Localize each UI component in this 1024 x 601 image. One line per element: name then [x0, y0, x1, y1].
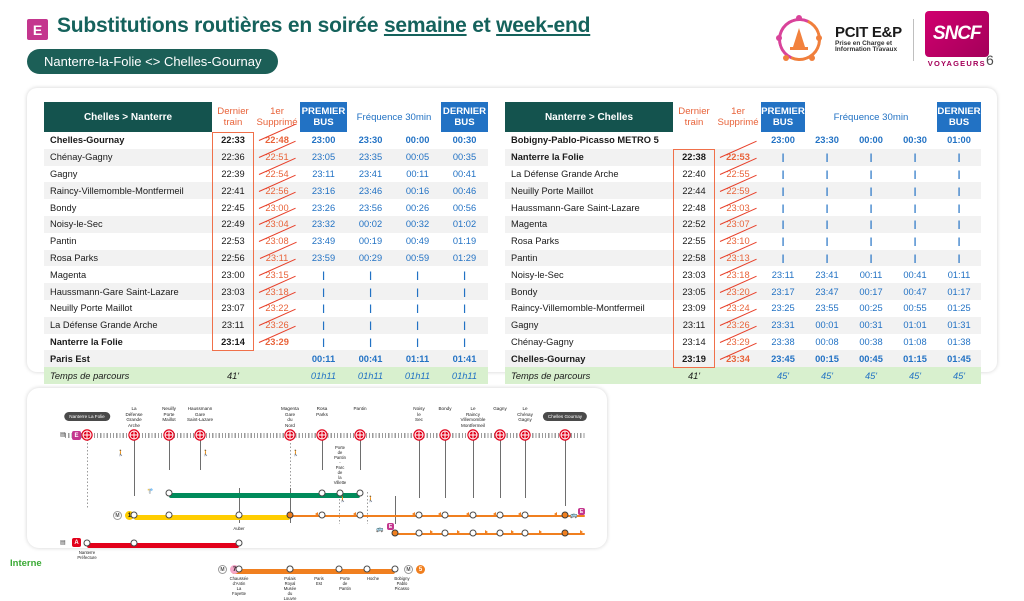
route-pill: Nanterre-la-Folie <> Chelles-Gournay: [27, 49, 278, 74]
dernier-train-value: 22:41: [212, 182, 254, 199]
connector-ladefense: [134, 436, 135, 496]
station-name: Haussmann-Gare Saint-Lazare: [505, 199, 673, 216]
map-station-label: Pantin: [353, 406, 366, 412]
rer-a-train-icon: ▤: [60, 539, 66, 546]
bus-arrow-east-1: [457, 530, 460, 534]
frequence-bus-value: |: [893, 250, 937, 267]
frequence-bus-value: 00:26: [394, 199, 441, 216]
table-row: Neuilly Porte Maillot22:4422:59|||||: [505, 182, 981, 199]
bus-arrow-west-0: [315, 512, 318, 516]
map-station-marker: [415, 431, 424, 440]
pink-node-chaussee-antin: [236, 566, 243, 573]
bus-node-w6: [497, 512, 504, 519]
station-name: Pantin: [44, 233, 212, 250]
premier-bus-value: 23:25: [761, 300, 805, 317]
table-row: Magenta23:0023:15||||: [44, 266, 488, 283]
line-e-badge: E: [27, 19, 48, 40]
dernier-train-value: 22:44: [673, 182, 715, 199]
dernier-train-value: 22:39: [212, 166, 254, 183]
green-line: [169, 493, 360, 498]
total-row: Temps de parcours41'45'45'45'45'45': [505, 367, 981, 384]
yellow-node-auber: [236, 512, 243, 519]
pedestrian-transfer-icon-1: 🚶: [202, 450, 209, 457]
pedestrian-transfer-icon-0: 🚶: [117, 450, 124, 457]
frequence-bus-value: |: [849, 233, 893, 250]
dernier-bus-value: |: [441, 334, 488, 351]
map-station-marker: [130, 431, 139, 440]
dernier-train-value: 22:33: [212, 132, 254, 149]
map-label-nanterre-prefecture: NanterrePréfecture: [77, 550, 96, 560]
bus-arrow-east-2: [485, 530, 488, 534]
left-header-premier-supprime: 1er Supprimé: [254, 102, 300, 132]
frequence-bus-value: |: [893, 199, 937, 216]
premier-supprime-value: 23:15: [254, 266, 300, 283]
bus-arrow-east-5: [580, 530, 583, 534]
premier-bus-value: |: [300, 317, 347, 334]
frequence-bus-value: 00:55: [893, 300, 937, 317]
table-row: Gagny22:3922:5423:1123:4100:1100:41: [44, 166, 488, 183]
premier-supprime-value: 23:08: [254, 233, 300, 250]
station-name: Chelles-Gournay: [44, 132, 212, 149]
bus-terminus-paris-est: [287, 512, 294, 519]
station-name: Gagny: [505, 317, 673, 334]
total-bus-duration: 01h11: [300, 367, 347, 384]
frequence-bus-value: 23:47: [805, 283, 849, 300]
metro-m-badge-1: M: [113, 511, 122, 520]
connector-leraincy: [473, 436, 474, 498]
bus-node-e1: [416, 530, 423, 537]
dernier-train-value: 22:52: [673, 216, 715, 233]
premier-supprime-value: 22:48: [254, 132, 300, 149]
bus-terminus-chelles-w: [562, 512, 569, 519]
green-node-pantin: [357, 490, 364, 497]
premier-supprime-value: 22:55: [715, 166, 761, 183]
map-station-chip: Chelles Gournay: [543, 412, 587, 421]
premier-bus-value: |: [300, 266, 347, 283]
station-name: Neuilly Porte Maillot: [44, 300, 212, 317]
dernier-train-value: [212, 350, 254, 367]
rer-e-train-icon: ▤: [60, 431, 66, 438]
map-label-porte-pantin-villette: PortedePantin-ParcdelaVillette: [334, 445, 347, 485]
right-header-premier-supprime: 1er Supprimé: [715, 102, 761, 132]
logo-divider: [913, 19, 914, 61]
orange-node-bobigny: [392, 566, 399, 573]
connector-bobigny: [395, 496, 396, 524]
table-row: Gagny23:1123:2623:3100:0100:3101:0101:31: [505, 317, 981, 334]
table-row: La Défense Grande Arche22:4022:55|||||: [505, 166, 981, 183]
frequence-bus-value: 23:41: [347, 166, 394, 183]
table-row: Neuilly Porte Maillot23:0723:22||||: [44, 300, 488, 317]
premier-supprime-value: 22:56: [254, 182, 300, 199]
dernier-bus-value: 00:35: [441, 149, 488, 166]
bus-terminus-bobigny: [392, 530, 399, 537]
dernier-bus-value: 01:41: [441, 350, 488, 367]
frequence-bus-value: 00:19: [347, 233, 394, 250]
station-name: Bondy: [44, 199, 212, 216]
table-row: Chénay-Gagny23:1423:2923:3800:0800:3801:…: [505, 334, 981, 351]
connector-nanterre-dotted: [87, 436, 88, 508]
total-bus-duration: 01h11: [394, 367, 441, 384]
frequence-bus-value: 00:11: [849, 266, 893, 283]
total-bus-duration: 45': [937, 367, 981, 384]
frequence-bus-value: 00:31: [849, 317, 893, 334]
frequence-bus-value: |: [347, 300, 394, 317]
bus-arrow-west-5: [493, 512, 496, 516]
total-label: Temps de parcours: [505, 367, 673, 384]
dernier-bus-value: 01:17: [937, 283, 981, 300]
left-table-body: Chelles-Gournay22:3322:4823:0023:3000:00…: [44, 132, 488, 384]
total-bus-duration: 01h11: [441, 367, 488, 384]
premier-supprime-value: 22:59: [715, 182, 761, 199]
right-header-dernier-bus: DERNIER BUS: [937, 102, 981, 132]
green-node-neuilly: [166, 490, 173, 497]
frequence-bus-value: 00:41: [347, 350, 394, 367]
yellow-line-metro-1: [134, 515, 290, 520]
dernier-train-value: 23:05: [673, 283, 715, 300]
station-name: Raincy-Villemomble-Montfermeil: [44, 182, 212, 199]
right-header-dernier-train: Dernier train: [673, 102, 715, 132]
total-train-duration: 41': [212, 367, 254, 384]
premier-supprime-value: 23:24: [715, 300, 761, 317]
frequence-bus-value: 00:11: [394, 166, 441, 183]
map-label-louvre: PalaisRoyalMuséeduLouvre: [284, 576, 297, 601]
pedestrian-transfer-icon-4: 🚶: [367, 496, 374, 503]
dernier-train-value: 23:00: [212, 266, 254, 283]
total-spacer: [715, 367, 761, 384]
premier-bus-value: |: [761, 233, 805, 250]
right-table-body: Bobigny-Pablo-Picasso METRO 523:0023:300…: [505, 132, 981, 384]
pcit-logo-icon: [775, 15, 824, 64]
dernier-train-value: 22:49: [212, 216, 254, 233]
table-row: Paris Est00:1100:4101:1101:41: [44, 350, 488, 367]
map-station-marker: [196, 431, 205, 440]
line-e-map-badge: E: [72, 431, 81, 440]
pcit-name: PCIT E&P: [835, 25, 902, 41]
dernier-train-value: 22:48: [673, 199, 715, 216]
map-label-porte-de-pantin: PortedePantin: [339, 576, 351, 591]
dernier-bus-value: |: [937, 149, 981, 166]
frequence-bus-value: 23:35: [347, 149, 394, 166]
frequence-bus-value: 23:55: [805, 300, 849, 317]
dernier-train-value: 23:09: [673, 300, 715, 317]
frequence-bus-value: |: [893, 182, 937, 199]
dernier-train-value: 23:14: [212, 334, 254, 351]
map-station-marker: [318, 431, 327, 440]
station-name: Raincy-Villemomble-Montfermeil: [505, 300, 673, 317]
total-bus-duration: 45': [849, 367, 893, 384]
frequence-bus-value: 01:15: [893, 350, 937, 367]
bus-arrow-east-4: [539, 530, 542, 534]
dernier-bus-value: |: [937, 199, 981, 216]
map-station-label: Bondy: [438, 406, 451, 412]
frequence-bus-value: |: [347, 266, 394, 283]
page-title-part-2: semaine: [384, 14, 467, 37]
table-row: Haussmann-Gare Saint-Lazare22:4823:03|||…: [505, 199, 981, 216]
map-station-chip: Nanterre La Folie: [64, 412, 110, 421]
dernier-train-value: 23:14: [673, 334, 715, 351]
map-station-label: LaDéfenseGrandeArche: [125, 406, 142, 429]
orange-node-hoche: [364, 566, 371, 573]
dernier-train-value: 22:53: [212, 233, 254, 250]
left-header-frequence: Fréquence 30min: [347, 102, 441, 132]
map-station-label: LeChénayGagny: [517, 406, 533, 423]
classification-label: Interne: [10, 558, 42, 569]
bus-node-e4: [497, 530, 504, 537]
premier-supprime-value: 23:03: [715, 199, 761, 216]
premier-bus-value: |: [300, 334, 347, 351]
dernier-bus-value: 01:38: [937, 334, 981, 351]
map-station-label: Gagny: [493, 406, 507, 412]
dernier-train-value: 23:03: [212, 283, 254, 300]
premier-supprime-value: [715, 132, 761, 149]
station-name: Pantin: [505, 250, 673, 267]
bus-arrow-west-2: [412, 512, 415, 516]
bus-arrow-west-7: [554, 512, 557, 516]
premier-supprime-value: [254, 350, 300, 367]
frequence-bus-value: 01:08: [893, 334, 937, 351]
frequence-bus-value: |: [805, 233, 849, 250]
table-row: Chénay-Gagny22:3622:5123:0523:3500:0500:…: [44, 149, 488, 166]
map-station-marker: [441, 431, 450, 440]
premier-bus-value: |: [761, 250, 805, 267]
right-header-frequence: Fréquence 30min: [805, 102, 937, 132]
bus-arrow-east-3: [511, 530, 514, 534]
table-row: Raincy-Villemomble-Montfermeil23:0923:24…: [505, 300, 981, 317]
map-station-label: LeRaincyVillemombleMontfermeil: [461, 406, 486, 429]
premier-bus-value: 23:45: [761, 350, 805, 367]
map-station-marker: [286, 431, 295, 440]
dernier-bus-value: 01:11: [937, 266, 981, 283]
bus-terminus-chelles-e: [562, 530, 569, 537]
station-name: Chelles-Gournay: [505, 350, 673, 367]
station-name: La Défense Grande Arche: [505, 166, 673, 183]
premier-supprime-value: 23:22: [254, 300, 300, 317]
frequence-bus-value: 23:30: [805, 132, 849, 149]
dernier-train-value: 22:36: [212, 149, 254, 166]
frequence-bus-value: 00:00: [394, 132, 441, 149]
premier-bus-value: |: [300, 300, 347, 317]
dernier-bus-value: |: [937, 233, 981, 250]
premier-supprime-value: 23:29: [254, 334, 300, 351]
map-station-label: NoisyleSec: [413, 406, 425, 423]
connector-chenay: [525, 436, 526, 498]
map-station-label: HaussmannGareSaint-Lazare: [187, 406, 213, 423]
total-spacer: [254, 367, 300, 384]
dernier-bus-value: |: [441, 317, 488, 334]
red-line-rer-a: [87, 543, 239, 548]
dernier-train-value: 22:55: [673, 233, 715, 250]
station-name: Rosa Parks: [44, 250, 212, 267]
station-name: Magenta: [44, 266, 212, 283]
bus-node-w7: [522, 512, 529, 519]
table-row: Bondy22:4523:0023:2623:5600:2600:56: [44, 199, 488, 216]
map-station-marker: [83, 431, 92, 440]
station-name: Magenta: [505, 216, 673, 233]
metro-m-badge-3: M: [404, 565, 413, 574]
frequence-bus-value: 00:32: [394, 216, 441, 233]
connector-noisy: [419, 436, 420, 498]
premier-bus-value: 23:49: [300, 233, 347, 250]
table-row: Haussmann-Gare Saint-Lazare23:0323:18|||…: [44, 283, 488, 300]
dernier-bus-value: 01:45: [937, 350, 981, 367]
dernier-train-value: 22:40: [673, 166, 715, 183]
map-station-marker: [165, 431, 174, 440]
bus-arrow-west-4: [466, 512, 469, 516]
red-node-ladefense: [131, 540, 138, 547]
sncf-wordmark: SNCF: [933, 23, 981, 45]
frequence-bus-value: |: [849, 216, 893, 233]
map-station-marker: [521, 431, 530, 440]
frequence-bus-value: |: [805, 149, 849, 166]
dernier-train-value: 23:03: [673, 266, 715, 283]
map-station-label: RosaParks: [316, 406, 328, 417]
left-header-premier-bus: PREMIER BUS: [300, 102, 347, 132]
premier-bus-value: 23:00: [761, 132, 805, 149]
frequence-bus-value: 23:30: [347, 132, 394, 149]
metro-m-badge-2: M: [218, 565, 227, 574]
dernier-bus-value: 01:31: [937, 317, 981, 334]
table-row: Chelles-Gournay22:3322:4823:0023:3000:00…: [44, 132, 488, 149]
frequence-bus-value: |: [394, 266, 441, 283]
dernier-bus-value: 00:30: [441, 132, 488, 149]
metro-5-badge: 5: [416, 565, 425, 574]
premier-supprime-value: 23:29: [715, 334, 761, 351]
bus-node-w1: [319, 512, 326, 519]
table-row: Noisy-le-Sec23:0323:1823:1123:4100:1100:…: [505, 266, 981, 283]
dernier-bus-value: 01:02: [441, 216, 488, 233]
table-row: Bobigny-Pablo-Picasso METRO 523:0023:300…: [505, 132, 981, 149]
premier-supprime-value: 23:18: [715, 266, 761, 283]
dernier-train-value: 22:56: [212, 250, 254, 267]
map-station-marker: [496, 431, 505, 440]
table-row: Magenta22:5223:07|||||: [505, 216, 981, 233]
station-name: La Défense Grande Arche: [44, 317, 212, 334]
premier-bus-value: 23:38: [761, 334, 805, 351]
frequence-bus-value: |: [805, 182, 849, 199]
station-name: Nanterre la Folie: [44, 334, 212, 351]
frequence-bus-value: 00:17: [849, 283, 893, 300]
frequence-bus-value: |: [347, 334, 394, 351]
frequence-bus-value: |: [849, 199, 893, 216]
bus-node-e2: [442, 530, 449, 537]
dernier-bus-value: 00:56: [441, 199, 488, 216]
premier-supprime-value: 23:11: [254, 250, 300, 267]
orange-line-bus-south: [232, 569, 395, 574]
pedestrian-transfer-icon-3: 🚶: [339, 496, 346, 503]
dernier-train-value: 23:11: [673, 317, 715, 334]
table-row: Raincy-Villemomble-Montfermeil22:4122:56…: [44, 182, 488, 199]
frequence-bus-value: |: [394, 334, 441, 351]
page-header: E Substitutions routières en soirée sema…: [0, 0, 1024, 88]
total-bus-duration: 01h11: [347, 367, 394, 384]
frequence-bus-value: 01:11: [394, 350, 441, 367]
dernier-bus-value: |: [937, 250, 981, 267]
map-label-bobigny: BobignyPabloPicasso: [394, 576, 409, 591]
premier-supprime-value: 22:53: [715, 149, 761, 166]
bus-substitution-badge-chelles: E: [578, 508, 585, 515]
map-label-paris-est: ParisEst: [314, 576, 324, 586]
station-name: Chénay-Gagny: [44, 149, 212, 166]
timetable-left: Chelles > Nanterre Dernier train 1er Sup…: [44, 102, 488, 384]
orange-node-paris-est: [287, 566, 294, 573]
logo-group: PCIT E&P Prise en Charge et Information …: [775, 12, 989, 67]
frequence-bus-value: 00:41: [893, 266, 937, 283]
table-row: Pantin22:5823:13|||||: [505, 250, 981, 267]
table-row: Pantin22:5323:0823:4900:1900:4901:19: [44, 233, 488, 250]
map-station-marker: [356, 431, 365, 440]
dernier-bus-value: 01:29: [441, 250, 488, 267]
page-title-part-3: et: [467, 14, 497, 37]
red-node-nanterre-prefecture: [84, 540, 91, 547]
connector-magenta-dotted: [290, 436, 291, 488]
network-map: E ▤ 🚏 A ▤ 1: [27, 388, 607, 548]
premier-bus-value: 23:31: [761, 317, 805, 334]
pcit-logo-text: PCIT E&P Prise en Charge et Information …: [835, 25, 902, 54]
station-name: Noisy-le-Sec: [44, 216, 212, 233]
frequence-bus-value: 00:16: [394, 182, 441, 199]
premier-supprime-value: 23:18: [254, 283, 300, 300]
table-row: Nanterre la Folie23:1423:29||||: [44, 334, 488, 351]
page-number: 6: [986, 52, 994, 68]
dernier-bus-value: 01:00: [937, 132, 981, 149]
table-row: Noisy-le-Sec22:4923:0423:3200:0200:3201:…: [44, 216, 488, 233]
frequence-bus-value: |: [805, 199, 849, 216]
frequence-bus-value: |: [347, 283, 394, 300]
frequence-bus-value: 00:38: [849, 334, 893, 351]
map-station-marker: [561, 431, 570, 440]
yellow-node-ladefense: [131, 512, 138, 519]
orange-node-porte-pantin: [336, 566, 343, 573]
premier-supprime-value: 23:26: [715, 317, 761, 334]
premier-supprime-value: 23:13: [715, 250, 761, 267]
left-header-direction: Chelles > Nanterre: [44, 102, 212, 132]
connector-rosaparks: [322, 436, 323, 470]
table-row: Chelles-Gournay23:1923:3423:4500:1500:45…: [505, 350, 981, 367]
frequence-bus-value: |: [849, 182, 893, 199]
table-row: Rosa Parks22:5623:1123:5900:2900:5901:29: [44, 250, 488, 267]
premier-supprime-value: 23:04: [254, 216, 300, 233]
table-row: La Défense Grande Arche23:1123:26||||: [44, 317, 488, 334]
bus-icon-bobigny: 🚌: [376, 526, 383, 533]
premier-supprime-value: 22:51: [254, 149, 300, 166]
frequence-bus-value: 23:41: [805, 266, 849, 283]
premier-bus-value: |: [761, 149, 805, 166]
yellow-node-neuilly: [166, 512, 173, 519]
frequence-bus-value: 00:01: [805, 317, 849, 334]
frequence-bus-value: |: [893, 149, 937, 166]
bus-arrow-west-6: [518, 512, 521, 516]
premier-bus-value: 23:11: [300, 166, 347, 183]
page-title-part-4: week-end: [496, 14, 590, 37]
frequence-bus-value: 00:45: [849, 350, 893, 367]
connector-neuilly: [169, 436, 170, 470]
frequence-bus-value: |: [394, 317, 441, 334]
pedestrian-transfer-icon-2: 🚶: [292, 450, 299, 457]
dernier-bus-value: 01:25: [937, 300, 981, 317]
map-station-label: NeuillyPorteMaillot: [162, 406, 176, 423]
frequence-bus-value: |: [849, 250, 893, 267]
green-node-rosaparks: [319, 490, 326, 497]
dernier-train-value: 23:19: [673, 350, 715, 367]
bus-arrow-east-0: [430, 530, 433, 534]
premier-bus-value: 23:00: [300, 132, 347, 149]
frequence-bus-value: |: [394, 283, 441, 300]
station-name: Rosa Parks: [505, 233, 673, 250]
network-map-card: E ▤ 🚏 A ▤ 1: [27, 388, 607, 548]
frequence-bus-value: |: [805, 166, 849, 183]
right-header-direction: Nanterre > Chelles: [505, 102, 673, 132]
dernier-bus-value: 00:41: [441, 166, 488, 183]
